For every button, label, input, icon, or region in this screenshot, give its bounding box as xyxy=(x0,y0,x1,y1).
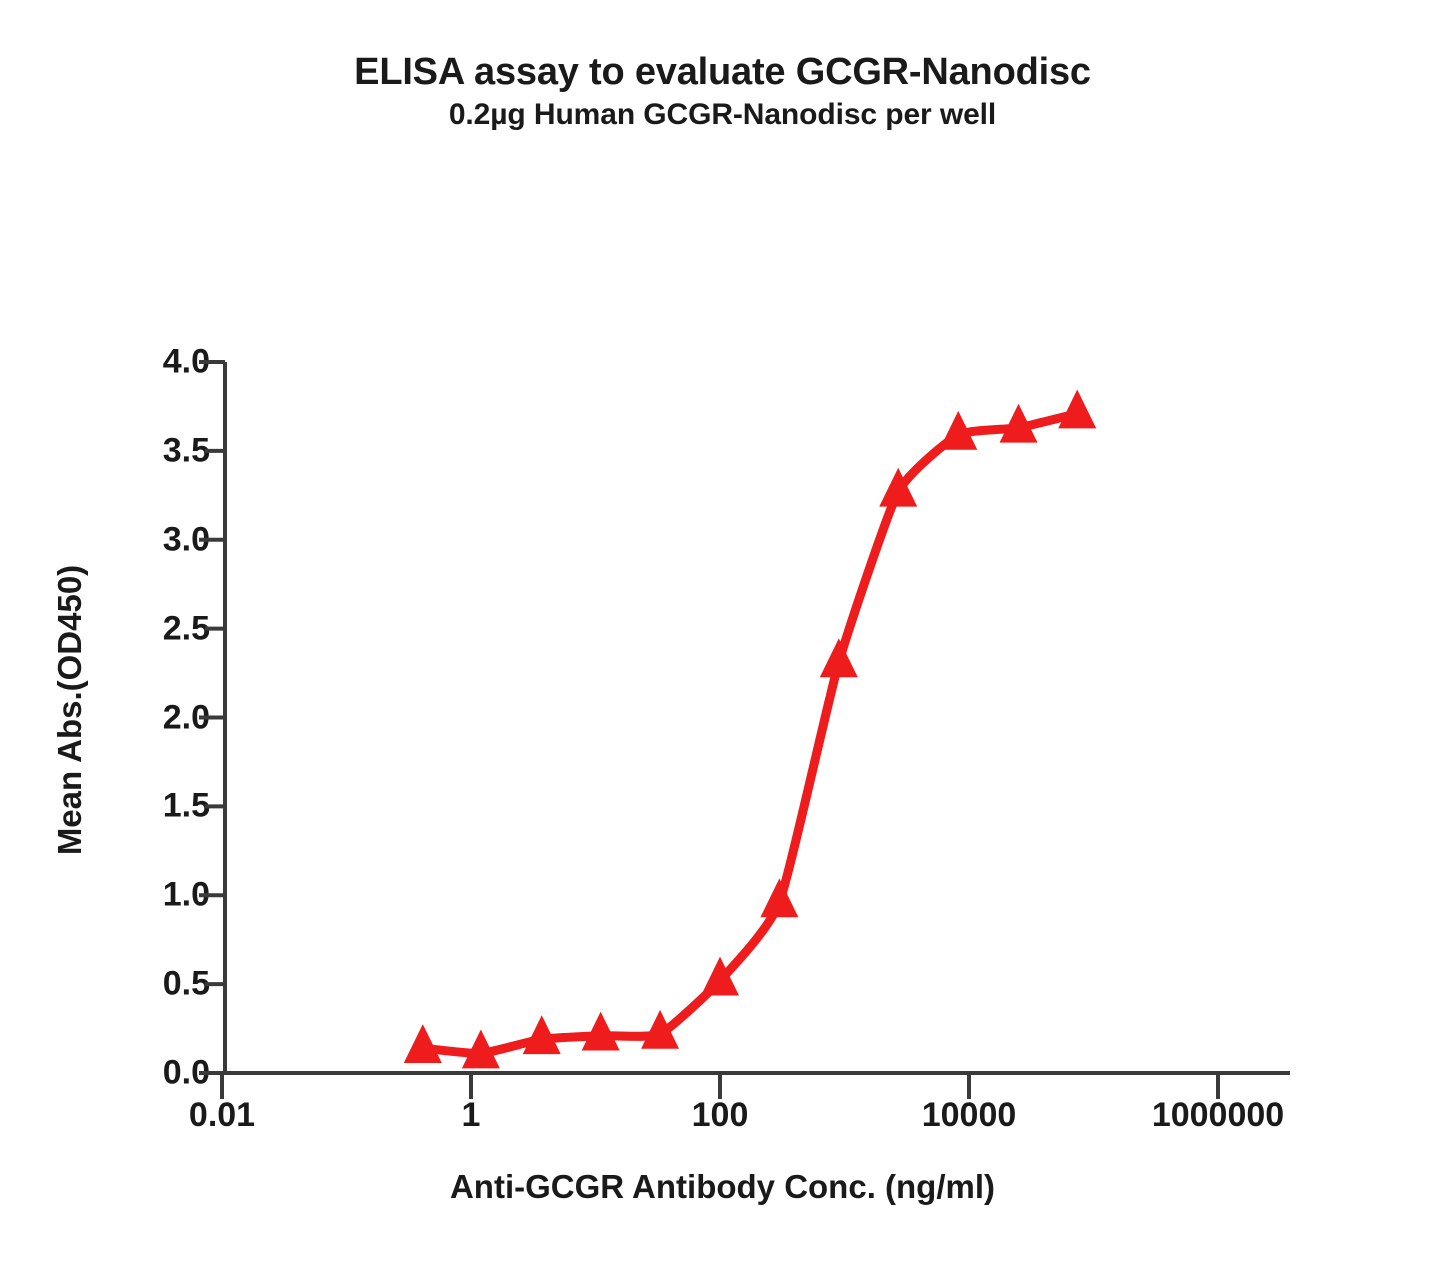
data-series-layer xyxy=(404,390,1096,1069)
elisa-chart-figure: ELISA assay to evaluate GCGR-Nanodisc 0.… xyxy=(0,0,1445,1276)
data-point-marker xyxy=(1058,390,1096,429)
plot-canvas xyxy=(0,0,1445,1276)
data-point-marker xyxy=(820,638,858,677)
axis-layer xyxy=(199,362,1290,1099)
series-line xyxy=(423,414,1077,1054)
data-point-marker xyxy=(760,878,798,917)
data-point-marker xyxy=(582,1012,620,1051)
data-point-marker xyxy=(404,1024,442,1063)
